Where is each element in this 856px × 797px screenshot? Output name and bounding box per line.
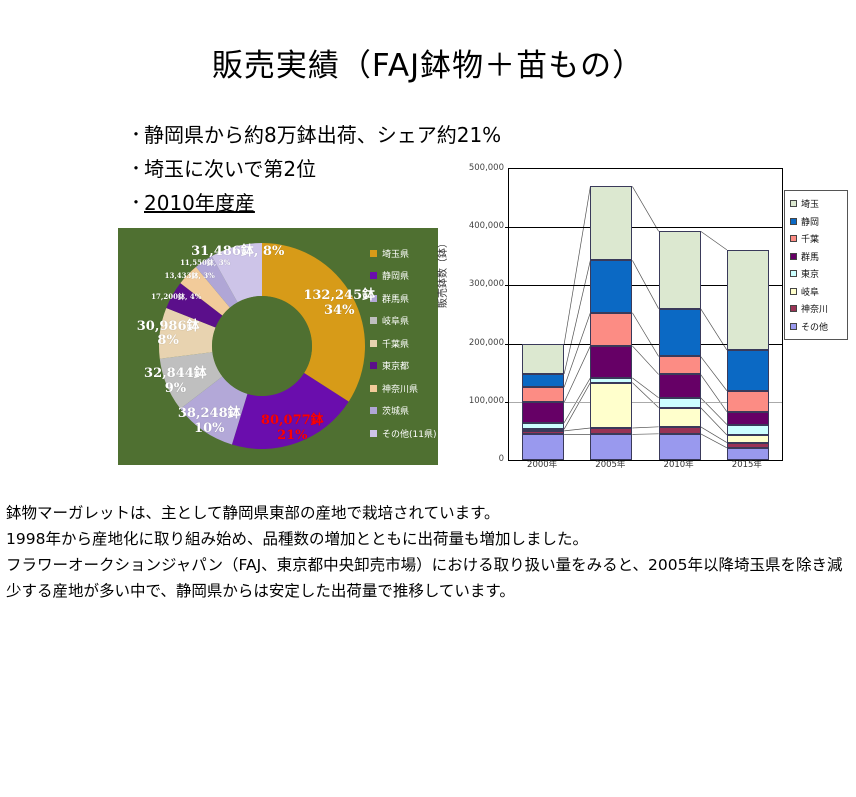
axis-tickmark — [505, 402, 509, 403]
bar-legend-swatch-icon — [790, 305, 797, 312]
bar-segment — [590, 434, 632, 460]
pie-legend-label: 埼玉県 — [382, 247, 409, 260]
pie-slice-value: 13,433鉢, 3% — [165, 272, 215, 280]
y-axis-tick-label: 200,000 — [469, 338, 504, 348]
y-axis-tick-label: 400,000 — [469, 221, 504, 231]
bar-segment — [727, 443, 769, 448]
pie-legend-swatch-icon — [370, 317, 377, 324]
bar-chart-y-axis-label: 販売鉢数（鉢） — [434, 188, 449, 358]
bar-segment — [590, 346, 632, 378]
axis-tickmark — [505, 344, 509, 345]
bar-segment — [590, 260, 632, 312]
bar-legend-label: 岐阜 — [801, 285, 819, 298]
bar-legend-swatch-icon — [790, 200, 797, 207]
series-leader-line — [701, 408, 727, 435]
bar-segment — [727, 250, 769, 350]
bar-segment — [522, 429, 564, 431]
x-axis-tick-label: 2010年 — [644, 458, 714, 470]
bar-legend-label: 群馬 — [801, 250, 819, 263]
pie-legend-swatch-icon — [370, 340, 377, 347]
series-leader-line — [632, 346, 658, 375]
bar-legend-swatch-icon — [790, 288, 797, 295]
bar-legend-swatch-icon — [790, 218, 797, 225]
y-axis-tick-label: 500,000 — [469, 163, 504, 173]
bar-segment — [659, 398, 701, 408]
pie-slice-percent: 8% — [137, 334, 200, 349]
bar-legend-item[interactable]: 埼玉 — [790, 195, 843, 213]
bar-segment — [659, 374, 701, 397]
series-leader-line — [632, 427, 658, 428]
bar-stack — [727, 169, 769, 460]
pie-slice-value: 132,245鉢 — [303, 289, 375, 304]
bar-segment — [522, 374, 564, 387]
page-title: 販売実績（FAJ鉢物＋苗もの） — [0, 40, 856, 85]
bar-legend-item[interactable]: その他 — [790, 318, 843, 336]
pie-slice-value: 17,200鉢, 4% — [151, 293, 201, 301]
pie-slice-value: 32,844鉢 — [144, 367, 207, 382]
pie-slice-percent: 10% — [178, 422, 241, 437]
series-leader-line — [564, 313, 590, 387]
bar-segment — [590, 313, 632, 346]
bar-segment — [727, 425, 769, 435]
series-leader-line — [701, 434, 727, 448]
pie-slice-percent: 21% — [261, 429, 324, 444]
pie-legend-label: 静岡県 — [382, 269, 409, 282]
pie-legend-label: 千葉県 — [382, 337, 409, 350]
pie-legend-swatch-icon — [370, 430, 377, 437]
bar-legend-label: 静岡 — [801, 215, 819, 228]
bar-legend-item[interactable]: 神奈川 — [790, 300, 843, 318]
bullet-text: 埼玉に次いで第2位 — [144, 152, 316, 186]
bullet-item: ・ 静岡県から約8万鉢出荷、シェア約21% — [128, 118, 548, 152]
series-leader-line — [632, 434, 658, 435]
series-leader-line — [564, 378, 590, 423]
bar-segment — [522, 344, 564, 374]
series-leader-line — [632, 383, 658, 408]
pie-slice-label: 38,248鉢10% — [178, 407, 241, 436]
bar-chart-y-axis-ticks: 0100,000200,000300,000400,000500,000 — [448, 162, 504, 462]
series-leader-line — [701, 427, 727, 443]
pie-slice-label: 30,986鉢8% — [137, 320, 200, 349]
x-axis-tick-label: 2015年 — [712, 458, 782, 470]
pie-chart: 埼玉県静岡県群馬県岐阜県千葉県東京都神奈川県茨城県その他(11県) 132,24… — [118, 228, 458, 465]
bar-chart-plot-area — [508, 168, 783, 461]
pie-legend-item[interactable]: 茨城県 — [370, 400, 448, 423]
bar-legend-label: 千葉 — [801, 232, 819, 245]
series-leader-line — [564, 186, 590, 344]
pie-legend-item[interactable]: 神奈川県 — [370, 377, 448, 400]
pie-slice-percent: 34% — [303, 304, 375, 319]
bar-segment — [659, 427, 701, 434]
bar-segment — [522, 402, 564, 422]
bar-segment — [590, 378, 632, 383]
bar-legend-item[interactable]: 東京 — [790, 265, 843, 283]
pie-slice-label: 80,077鉢21% — [261, 414, 324, 443]
bar-segment — [522, 423, 564, 429]
bar-legend-label: 神奈川 — [801, 302, 828, 315]
series-leader-line — [632, 186, 658, 231]
bullet-marker-icon: ・ — [128, 186, 144, 220]
pie-slice-label: 11,550鉢, 3% — [180, 259, 230, 267]
bar-stack — [522, 169, 564, 460]
bar-segment — [659, 434, 701, 460]
bar-segment — [727, 350, 769, 391]
body-line: 鉢物マーガレットは、主として静岡県東部の産地で栽培されています。 — [6, 500, 852, 526]
bar-legend-item[interactable]: 岐阜 — [790, 283, 843, 301]
y-axis-tick-label: 300,000 — [469, 279, 504, 289]
bar-legend-swatch-icon — [790, 270, 797, 277]
pie-slice-value: 30,986鉢 — [137, 320, 200, 335]
bullet-marker-icon: ・ — [128, 118, 144, 152]
slide-root: 販売実績（FAJ鉢物＋苗もの） ・ 静岡県から約8万鉢出荷、シェア約21% ・ … — [0, 0, 856, 797]
y-axis-tick-label: 0 — [499, 454, 504, 464]
bar-legend-label: 東京 — [801, 267, 819, 280]
bullet-marker-icon: ・ — [128, 152, 144, 186]
pie-slice-label: 32,844鉢9% — [144, 367, 207, 396]
series-leader-line — [632, 378, 658, 398]
bar-legend-item[interactable]: 千葉 — [790, 230, 843, 248]
bar-segment — [659, 408, 701, 427]
series-leader-line — [632, 313, 658, 357]
y-axis-tick-label: 100,000 — [469, 396, 504, 406]
body-line: フラワーオークションジャパン（FAJ、東京都中央卸売市場）における取り扱い量をみ… — [6, 552, 852, 604]
bar-chart-legend: 埼玉静岡千葉群馬東京岐阜神奈川その他 — [784, 190, 848, 340]
bar-segment — [659, 309, 701, 357]
bullet-text: 2010年度産 — [144, 186, 255, 220]
series-leader-line — [564, 260, 590, 373]
bar-segment — [590, 383, 632, 428]
bar-segment — [659, 231, 701, 308]
bar-chart: 販売鉢数（鉢） 0100,000200,000300,000400,000500… — [438, 162, 853, 482]
bar-stack — [590, 169, 632, 460]
pie-legend-swatch-icon — [370, 407, 377, 414]
pie-legend-swatch-icon — [370, 385, 377, 392]
bar-segment — [590, 428, 632, 434]
pie-slice-label: 31,486鉢, 8% — [191, 245, 284, 260]
bar-legend-swatch-icon — [790, 235, 797, 242]
bar-segment — [659, 356, 701, 374]
pie-legend-item[interactable]: その他(11県) — [370, 422, 448, 445]
pie-legend-swatch-icon — [370, 250, 377, 257]
pie-legend-swatch-icon — [370, 362, 377, 369]
bar-segment — [522, 387, 564, 402]
x-axis-tick-label: 2005年 — [575, 458, 645, 470]
body-paragraph: 鉢物マーガレットは、主として静岡県東部の産地で栽培されています。 1998年から… — [6, 500, 852, 604]
pie-slice-label: 132,245鉢34% — [303, 289, 375, 318]
pie-legend-label: 茨城県 — [382, 404, 409, 417]
bar-legend-item[interactable]: 群馬 — [790, 248, 843, 266]
bar-legend-label: 埼玉 — [801, 197, 819, 210]
series-leader-line — [564, 428, 590, 431]
series-leader-line — [564, 346, 590, 402]
pie-slice-value: 80,077鉢 — [261, 414, 324, 429]
pie-legend-label: 神奈川県 — [382, 382, 418, 395]
bar-legend-label: その他 — [801, 320, 828, 333]
bar-segment — [522, 434, 564, 460]
bar-legend-item[interactable]: 静岡 — [790, 213, 843, 231]
bar-legend-swatch-icon — [790, 323, 797, 330]
pie-legend-swatch-icon — [370, 272, 377, 279]
pie-legend-label: その他(11県) — [382, 427, 436, 440]
pie-slice-value: 31,486鉢, 8% — [191, 245, 284, 260]
series-leader-line — [701, 231, 727, 250]
bar-stack — [659, 169, 701, 460]
pie-slice-value: 11,550鉢, 3% — [180, 259, 230, 267]
bar-segment — [590, 186, 632, 260]
x-axis-tick-label: 2000年 — [507, 458, 577, 470]
series-leader-line — [701, 374, 727, 411]
pie-slice-value: 38,248鉢 — [178, 407, 241, 422]
bar-segment — [727, 435, 769, 443]
axis-tickmark — [505, 227, 509, 228]
bar-segment — [522, 431, 564, 434]
series-leader-line — [701, 356, 727, 390]
body-line: 1998年から産地化に取り組み始め、品種数の増加とともに出荷量も増加しました。 — [6, 526, 852, 552]
pie-slice-percent: 9% — [144, 382, 207, 397]
pie-legend-label: 群馬県 — [382, 292, 409, 305]
pie-donut-hole — [212, 296, 312, 396]
series-leader-line — [564, 383, 590, 430]
pie-slice-label: 13,433鉢, 3% — [165, 272, 215, 280]
bar-segment — [727, 391, 769, 412]
pie-legend-label: 岐阜県 — [382, 314, 409, 327]
pie-legend-label: 東京都 — [382, 359, 409, 372]
bar-segment — [727, 412, 769, 425]
axis-tickmark — [505, 285, 509, 286]
bar-legend-swatch-icon — [790, 253, 797, 260]
pie-slice-label: 17,200鉢, 4% — [151, 293, 201, 301]
bullet-text: 静岡県から約8万鉢出荷、シェア約21% — [144, 118, 501, 152]
